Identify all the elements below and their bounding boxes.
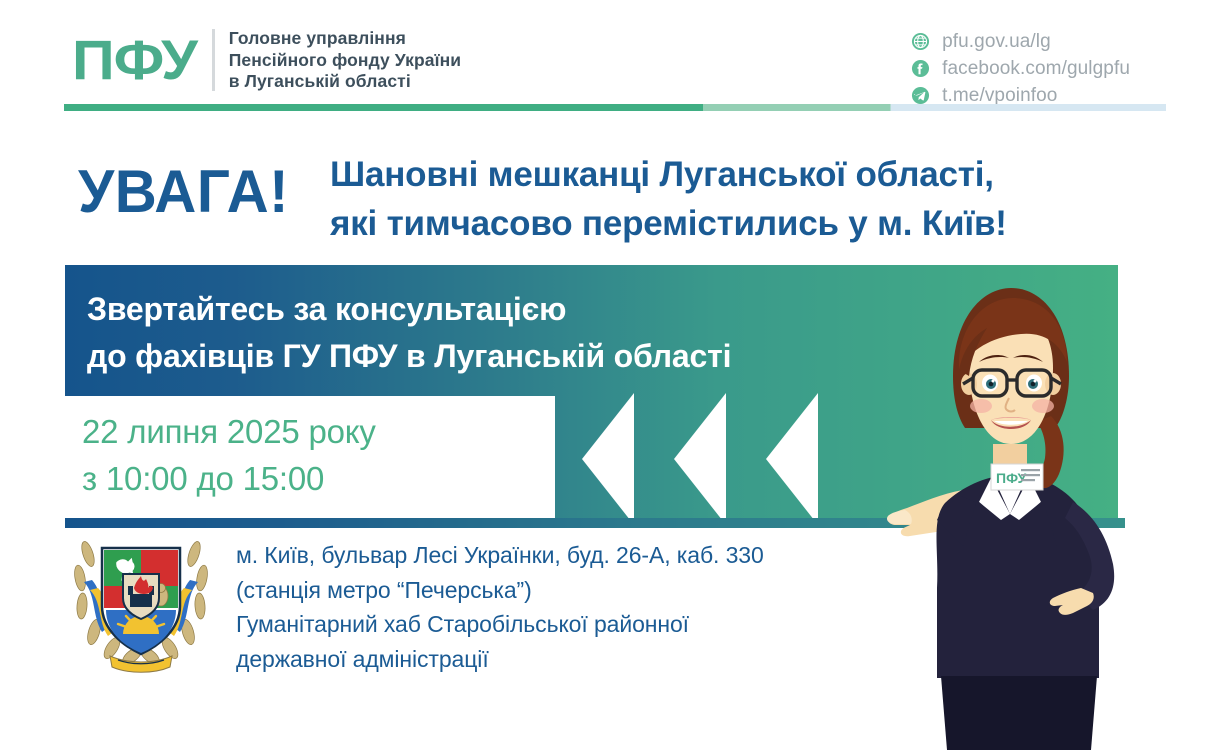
globe-icon <box>911 32 930 51</box>
logo-divider <box>212 29 215 91</box>
pfu-logo-mark: ПФУ <box>72 32 197 88</box>
link-facebook-label: facebook.com/gulgpfu <box>942 58 1130 80</box>
schedule-date: 22 липня 2025 року <box>82 408 376 455</box>
organization-logo: ПФУ Головне управління Пенсійного фонду … <box>72 28 461 93</box>
link-website-label: pfu.gov.ua/lg <box>942 31 1051 53</box>
schedule-block: 22 липня 2025 року з 10:00 до 15:00 <box>82 408 376 502</box>
address-line: (станція метро “Печерська”) <box>236 573 764 608</box>
organization-name: Головне управління Пенсійного фонду Укра… <box>229 28 461 93</box>
link-facebook[interactable]: facebook.com/gulgpfu <box>911 56 1130 81</box>
headline-message: Шановні мешканці Луганської області, які… <box>330 150 1007 248</box>
address-line: державної адміністрації <box>236 642 764 677</box>
address-block: м. Київ, бульвар Лесі Українки, буд. 26-… <box>236 538 764 676</box>
schedule-time: з 10:00 до 15:00 <box>82 455 376 502</box>
attention-label: УВАГА! <box>78 162 289 222</box>
female-consultant-illustration: ПФУ <box>845 258 1175 750</box>
poster-header: ПФУ Головне управління Пенсійного фонду … <box>0 0 1222 112</box>
luhansk-oblast-coat-of-arms-icon <box>66 536 216 678</box>
header-divider <box>64 104 1166 111</box>
chevron-left-icon <box>582 393 634 525</box>
poster: ПФУ Головне управління Пенсійного фонду … <box>0 0 1222 750</box>
facebook-icon <box>911 59 930 78</box>
svg-text:ПФУ: ПФУ <box>996 470 1026 486</box>
headline-section: УВАГА! Шановні мешканці Луганської облас… <box>0 140 1222 250</box>
consultation-banner-text: Звертайтесь за консультацією до фахівців… <box>87 286 731 380</box>
chevron-left-icon <box>674 393 726 525</box>
link-website[interactable]: pfu.gov.ua/lg <box>911 29 1130 54</box>
contact-links: pfu.gov.ua/lg facebook.com/gulgpfu <box>911 29 1130 110</box>
chevron-left-icon <box>766 393 818 525</box>
address-line: Гуманітарний хаб Старобільської районної <box>236 607 764 642</box>
address-line: м. Київ, бульвар Лесі Українки, буд. 26-… <box>236 538 764 573</box>
chevron-arrows <box>570 393 850 525</box>
telegram-icon <box>911 86 930 105</box>
